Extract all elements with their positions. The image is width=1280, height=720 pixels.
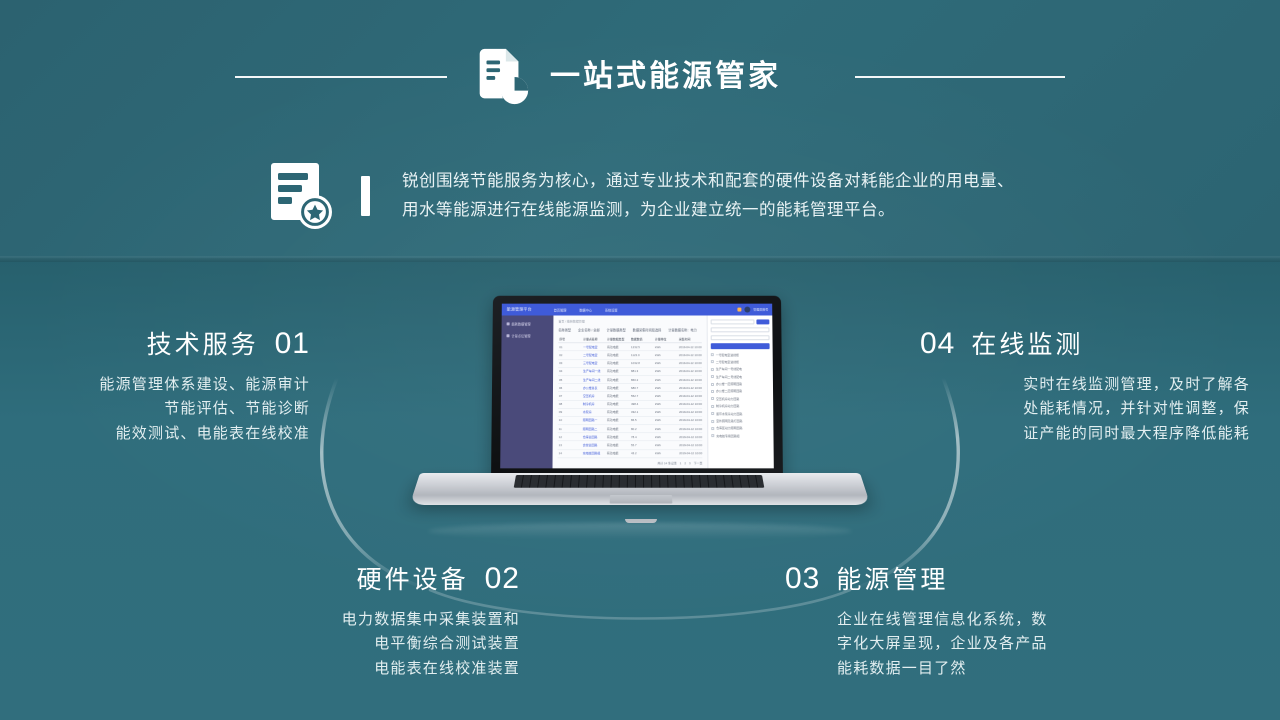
table-cell: 2019-04-12 10:00:00 <box>678 376 702 383</box>
table-cell: kWh <box>654 352 678 359</box>
laptop-keyboard <box>514 475 765 488</box>
quadrant-title: 硬件设备 <box>357 560 469 596</box>
table-cell: 2019-04-12 10:00:00 <box>678 392 702 399</box>
table-cell: 三号配电室 <box>582 360 606 367</box>
quadrant-lines: 能源管理体系建设、能源审计 节能评估、节能诊断 能效测试、电能表在线校准 <box>20 373 310 446</box>
table-cell: 有功电能 <box>606 343 630 350</box>
select-point-type[interactable] <box>711 327 770 332</box>
table-cell: 水泵房 <box>582 409 606 416</box>
quadrant-heading: 硬件设备 02 <box>180 560 520 596</box>
app-topbar: 能源管理平台 首页管理 数据中心 系统设置 管理员账号 <box>502 304 773 316</box>
checkbox-item[interactable]: 生产车间一号线配电 <box>711 367 770 371</box>
checkbox-list[interactable]: 一号配电室进线柜二号配电室进线柜生产车间一号线配电生产车间二号线配电办公楼一层照… <box>711 353 771 438</box>
search-button[interactable] <box>756 319 769 324</box>
table-cell: 2019-04-12 10:00:00 <box>678 417 702 424</box>
table-cell: 332.1 <box>630 409 654 416</box>
table-cell: 12 <box>558 433 582 440</box>
checkbox-label: 办公楼一层照明回路 <box>716 382 742 386</box>
pagination-item[interactable]: 共计 14 条记录 <box>657 461 676 465</box>
table-cell: 881.3 <box>630 368 654 375</box>
table-cell: 80.2 <box>630 425 654 432</box>
table-cell: 1122.0 <box>630 352 654 359</box>
table-cell: 2019-04-12 10:00:00 <box>678 433 702 440</box>
bullet-icon <box>507 322 510 325</box>
table-cell: 仓库总回路 <box>582 433 606 440</box>
table-cell: kWh <box>654 392 678 399</box>
table-cell: 照明回路二 <box>582 425 606 432</box>
checkbox-item[interactable]: 办公楼二层照明回路 <box>711 389 770 393</box>
table-cell: 02 <box>558 352 582 359</box>
checkbox-label: 仓库区动力照明回路 <box>716 426 742 430</box>
table-cell: 14 <box>558 450 582 457</box>
table-row[interactable]: 13食堂总回路有功电能55.7kWh2019-04-12 10:00:00 <box>558 442 703 450</box>
quadrant-lines: 电力数据集中采集装置和 电平衡综合测试装置 电能表在线校准装置 <box>180 608 520 681</box>
checkbox-label: 空压机房动力回路 <box>716 397 739 401</box>
checkbox-label: 办公楼二层照明回路 <box>716 389 742 393</box>
sidebar-item-1[interactable]: 计量点位管理 <box>501 333 553 338</box>
checkbox-item[interactable]: 仓库区动力照明回路 <box>711 426 770 430</box>
table-cell: 1232.5 <box>630 343 654 350</box>
pagination-item[interactable]: 1 <box>680 461 682 465</box>
table-cell: 860.2 <box>630 376 654 383</box>
filter-1[interactable]: 企业名称 / 全部 <box>578 327 600 332</box>
table-row[interactable]: 05生产车间二线有功电能860.2kWh2019-04-12 10:00:00 <box>558 376 702 384</box>
table-cell: 有功电能 <box>606 417 630 424</box>
document-star-icon <box>265 160 335 232</box>
quadrant-title: 技术服务 <box>147 325 259 361</box>
table-cell: 43.2 <box>630 450 654 457</box>
checkbox-label: 充电桩专用回路组 <box>716 434 739 438</box>
checkbox-item[interactable]: 充电桩专用回路组 <box>711 434 770 438</box>
table-cell: 一号配电室 <box>582 343 606 350</box>
quadrant-number: 04 <box>920 327 955 361</box>
table-cell: kWh <box>654 425 678 432</box>
laptop-reflection <box>428 523 852 539</box>
table-column-header: 计量数据类型 <box>606 335 630 342</box>
app-main: 首页 / 能耗数据管理 名称类型 企业名称 / 全部 计量数据类型 数据采集时间… <box>553 315 774 468</box>
table-row[interactable]: 02二号配电室有功电能1122.0kWh2019-04-12 10:00:00 <box>558 352 702 360</box>
checkbox-icon[interactable] <box>711 368 714 371</box>
table-cell: kWh <box>654 376 678 383</box>
table-column-header: 计量单位 <box>654 335 678 342</box>
table-column-header: 计量点名称 <box>582 335 606 342</box>
table-cell: 11 <box>558 425 582 432</box>
table-cell: 食堂总回路 <box>582 442 606 449</box>
panel-search[interactable] <box>711 319 770 324</box>
pagination-item[interactable]: 2 <box>684 461 686 465</box>
table-cell: 55.7 <box>630 442 654 449</box>
quadrant-hardware-equipment: 硬件设备 02 电力数据集中采集装置和 电平衡综合测试装置 电能表在线校准装置 <box>180 560 520 681</box>
checkbox-icon[interactable] <box>711 397 714 400</box>
laptop-lid: 能源管理平台 首页管理 数据中心 系统设置 管理员账号 能耗数据管理 <box>491 296 783 481</box>
table-cell: kWh <box>654 384 678 391</box>
pagination[interactable]: 共计 14 条记录123下一页 <box>558 461 703 465</box>
table-cell: kWh <box>654 368 678 375</box>
table-cell: 2019-04-12 10:00:00 <box>678 360 702 367</box>
table-cell: 2019-04-12 10:00:00 <box>678 409 702 416</box>
filter-0[interactable]: 名称类型 <box>558 327 571 332</box>
checkbox-label: 制冷机房动力回路 <box>716 404 739 408</box>
table-header: 序号计量点名称计量数据类型数据数值计量单位采集时间 <box>558 335 702 343</box>
page-header: 一站式能源管家 <box>0 0 1280 140</box>
app-nav[interactable]: 首页管理 数据中心 系统设置 <box>554 307 618 312</box>
table-row[interactable]: 04生产车间一线有功电能881.3kWh2019-04-12 10:00:00 <box>558 368 702 376</box>
table-cell: 2019-04-12 10:00:00 <box>678 352 702 359</box>
table-cell: 有功电能 <box>606 425 630 432</box>
quadrant-line-1: 节能评估、节能诊断 <box>20 397 310 421</box>
table-cell: 498.4 <box>630 400 654 407</box>
table-row[interactable]: 03三号配电室有功电能1032.8kWh2019-04-12 10:00:00 <box>558 360 702 368</box>
quadrant-technical-service: 技术服务 01 能源管理体系建设、能源审计 节能评估、节能诊断 能效测试、电能表… <box>20 325 310 446</box>
filter-2[interactable]: 计量数据类型 <box>607 327 626 332</box>
table-cell: 二号配电室 <box>582 352 606 359</box>
sidebar-item-0[interactable]: 能耗数据管理 <box>502 321 554 326</box>
checkbox-icon[interactable] <box>711 360 714 363</box>
checkbox-icon[interactable] <box>711 427 714 430</box>
table-body: 01一号配电室有功电能1232.5kWh2019-04-12 10:00:000… <box>558 343 703 458</box>
app-content: 首页 / 能耗数据管理 名称类型 企业名称 / 全部 计量数据类型 数据采集时间… <box>553 315 708 468</box>
table-column-header: 采集时间 <box>678 335 702 342</box>
quadrant-energy-management: 03 能源管理 企业在线管理信息化系统，数 字化大屏呈现，企业及各产品 能耗数据… <box>785 560 1115 681</box>
arc-left <box>322 378 430 590</box>
quadrant-line-2: 电能表在线校准装置 <box>180 657 520 681</box>
table-cell: 2019-04-12 10:00:00 <box>678 400 702 407</box>
table-cell: kWh <box>654 360 678 367</box>
table-cell: 生产车间二线 <box>582 376 606 383</box>
table-cell: 552.7 <box>630 392 654 399</box>
checkbox-label: 室外照明及路灯回路 <box>716 419 742 423</box>
quadrant-title: 能源管理 <box>836 560 948 596</box>
table-cell: 办公楼总表 <box>582 384 606 391</box>
table-cell: 10 <box>558 417 582 424</box>
intro-line-1: 锐创围绕节能服务为核心，通过专业技术和配套的硬件设备对耗能企业的用电量、 <box>402 167 1014 196</box>
checkbox-icon[interactable] <box>711 383 714 386</box>
table-cell: kWh <box>654 433 678 440</box>
table-row[interactable]: 11照明回路二有功电能80.2kWh2019-04-12 10:00:00 <box>558 425 702 433</box>
table-cell: 06 <box>558 384 582 391</box>
table-cell: 86.5 <box>630 417 654 424</box>
page-title: 一站式能源管家 <box>550 62 781 92</box>
quadrant-line-2: 能耗数据一目了然 <box>837 657 1115 681</box>
table-row[interactable]: 01一号配电室有功电能1232.5kWh2019-04-12 10:00:00 <box>558 343 702 351</box>
table-cell: 2019-04-12 10:00:00 <box>678 442 702 449</box>
checkbox-label: 一号配电室进线柜 <box>716 353 739 357</box>
table-cell: 照明回路一 <box>582 417 606 424</box>
laptop-trackpad <box>610 495 673 503</box>
checkbox-icon[interactable] <box>711 353 714 356</box>
table-cell: 有功电能 <box>606 433 630 440</box>
quadrant-line-2: 证产能的同时最大程序降低能耗 <box>920 422 1250 446</box>
table-cell: 1032.8 <box>630 360 654 367</box>
checkbox-item[interactable]: 生产车间二号线配电 <box>711 375 770 379</box>
intro-block: 锐创围绕节能服务为核心，通过专业技术和配套的硬件设备对耗能企业的用电量、 用水等… <box>265 160 1014 232</box>
add-point-button[interactable] <box>711 343 770 349</box>
table-row[interactable]: 10照明回路一有功电能86.5kWh2019-04-12 10:00:00 <box>558 417 702 425</box>
intro-description: 锐创围绕节能服务为核心，通过专业技术和配套的硬件设备对耗能企业的用电量、 用水等… <box>402 167 1014 225</box>
quadrant-online-monitoring: 04 在线监测 实时在线监测管理，及时了解各 处能耗情况，并针对性调整，保 证产… <box>920 325 1250 446</box>
sidebar-label-1: 计量点位管理 <box>511 333 530 338</box>
intro-line-2: 用水等能源进行在线能源监测，为企业建立统一的能耗管理平台。 <box>402 196 1014 225</box>
table-cell: kWh <box>654 343 678 350</box>
quadrant-line-0: 实时在线监测管理，及时了解各 <box>920 373 1250 397</box>
table-cell: 78.4 <box>630 433 654 440</box>
nav-item-1[interactable]: 数据中心 <box>579 307 592 312</box>
breadcrumb: 首页 / 能耗数据管理 <box>558 319 701 323</box>
pagination-item[interactable]: 3 <box>689 461 691 465</box>
table-cell: 09 <box>558 409 582 416</box>
quadrant-line-1: 处能耗情况，并针对性调整，保 <box>920 397 1250 421</box>
table-cell: 2019-04-12 10:00:00 <box>678 368 702 375</box>
laptop-mockup: 能源管理平台 首页管理 数据中心 系统设置 管理员账号 能耗数据管理 <box>420 295 860 535</box>
quadrant-heading: 04 在线监测 <box>920 325 1250 361</box>
table-cell: 2019-04-12 10:00:00 <box>678 384 702 391</box>
table-cell: 有功电能 <box>606 442 630 449</box>
checkbox-item[interactable]: 制冷机房动力回路 <box>711 404 770 408</box>
avatar[interactable] <box>744 307 750 313</box>
table-row[interactable]: 12仓库总回路有功电能78.4kWh2019-04-12 10:00:00 <box>558 433 703 441</box>
checkbox-icon[interactable] <box>711 420 714 423</box>
quadrant-heading: 03 能源管理 <box>785 560 1115 596</box>
table-cell: 03 <box>558 360 582 367</box>
table-column-header: 数据数值 <box>630 335 654 342</box>
user-name: 管理员账号 <box>753 308 768 312</box>
table-cell: 空压机房 <box>582 392 606 399</box>
filter-4[interactable]: 计量数据名称：电力 <box>668 327 697 332</box>
checkbox-icon[interactable] <box>711 375 714 378</box>
checkbox-item[interactable]: 循环水泵房动力回路 <box>711 412 770 416</box>
checkbox-label: 生产车间二号线配电 <box>716 375 742 379</box>
checkbox-label: 二号配电室进线柜 <box>716 360 739 364</box>
table-cell: kWh <box>654 417 678 424</box>
app-user-area[interactable]: 管理员账号 <box>737 307 768 313</box>
table-cell: 制冷机房 <box>582 400 606 407</box>
table-cell: 生产车间一线 <box>582 368 606 375</box>
quadrant-title: 在线监测 <box>971 325 1083 361</box>
table-cell: 充电桩回路组 <box>582 450 606 457</box>
table-row[interactable]: 08制冷机房有功电能498.4kWh2019-04-12 10:00:00 <box>558 400 702 408</box>
filter-3[interactable]: 数据采集时间段选择 <box>633 327 662 332</box>
table-cell: 有功电能 <box>606 368 630 375</box>
quadrant-line-1: 电平衡综合测试装置 <box>180 632 520 656</box>
table-row[interactable]: 09水泵房有功电能332.1kWh2019-04-12 10:00:00 <box>558 409 702 417</box>
quadrant-line-0: 企业在线管理信息化系统，数 <box>837 608 1115 632</box>
table-cell: 07 <box>558 392 582 399</box>
table-cell: 680.7 <box>630 384 654 391</box>
bullet-icon <box>506 334 509 337</box>
filter-bar[interactable]: 名称类型 企业名称 / 全部 计量数据类型 数据采集时间段选择 计量数据名称：电… <box>558 327 701 332</box>
table-cell: kWh <box>654 400 678 407</box>
table-cell: kWh <box>654 450 678 457</box>
table-cell: 有功电能 <box>606 450 630 457</box>
edit-icon[interactable] <box>737 308 741 312</box>
table-cell: 有功电能 <box>606 409 630 416</box>
pagination-item[interactable]: 下一页 <box>694 461 703 465</box>
keyboard-keys <box>514 475 765 488</box>
quadrant-number: 02 <box>485 562 520 596</box>
quadrant-line-0: 能源管理体系建设、能源审计 <box>20 373 310 397</box>
quadrant-line-1: 字化大屏呈现，企业及各产品 <box>837 632 1115 656</box>
checkbox-icon[interactable] <box>711 390 714 393</box>
table-cell: 有功电能 <box>606 376 630 383</box>
table-column-header: 序号 <box>558 335 582 342</box>
table-cell: 有功电能 <box>606 400 630 407</box>
sidebar-label-0: 能耗数据管理 <box>512 321 531 326</box>
quadrant-line-0: 电力数据集中采集装置和 <box>180 608 520 632</box>
table-cell: 13 <box>558 442 582 449</box>
app-body: 能耗数据管理 计量点位管理 首页 / 能耗数据管理 名称类型 企业名称 / 全部… <box>500 315 774 468</box>
document-chart-icon <box>470 46 532 108</box>
checkbox-item[interactable]: 室外照明及路灯回路 <box>711 419 770 423</box>
checkbox-item[interactable]: 空压机房动力回路 <box>711 397 770 401</box>
checkbox-item[interactable]: 二号配电室进线柜 <box>711 360 770 364</box>
brand-lockup: 一站式能源管家 <box>470 46 781 108</box>
nav-item-2[interactable]: 系统设置 <box>605 307 618 312</box>
app-sidebar[interactable]: 能耗数据管理 计量点位管理 <box>500 315 553 468</box>
table-row[interactable]: 06办公楼总表有功电能680.7kWh2019-04-12 10:00:00 <box>558 384 702 392</box>
table-cell: 05 <box>558 376 582 383</box>
quadrant-line-2: 能效测试、电能表在线校准 <box>20 422 310 446</box>
table-cell: 2019-04-12 10:00:00 <box>678 450 702 457</box>
nav-item-0[interactable]: 首页管理 <box>554 307 567 312</box>
table-cell: 2019-04-12 10:00:00 <box>678 343 702 350</box>
table-cell: 01 <box>558 343 582 350</box>
table-cell: 有功电能 <box>606 384 630 391</box>
table-cell: 有功电能 <box>606 352 630 359</box>
table-cell: kWh <box>654 409 678 416</box>
table-cell: 04 <box>558 368 582 375</box>
quadrant-lines: 实时在线监测管理，及时了解各 处能耗情况，并针对性调整，保 证产能的同时最大程序… <box>920 373 1250 446</box>
checkbox-label: 生产车间一号线配电 <box>716 367 742 371</box>
table-cell: 有功电能 <box>606 392 630 399</box>
quadrant-number: 01 <box>275 327 310 361</box>
table-cell: kWh <box>654 442 678 449</box>
quadrant-lines: 企业在线管理信息化系统，数 字化大屏呈现，企业及各产品 能耗数据一目了然 <box>837 608 1115 681</box>
table-row[interactable]: 14充电桩回路组有功电能43.2kWh2019-04-12 10:00:00 <box>558 450 703 458</box>
intro-accent-bar <box>361 176 370 216</box>
quadrant-number: 03 <box>785 562 820 596</box>
table-row[interactable]: 07空压机房有功电能552.7kWh2019-04-12 10:00:00 <box>558 392 702 400</box>
table-cell: 08 <box>558 400 582 407</box>
header-rule-right <box>855 76 1065 78</box>
laptop-screen: 能源管理平台 首页管理 数据中心 系统设置 管理员账号 能耗数据管理 <box>500 304 774 469</box>
checkbox-icon[interactable] <box>711 412 714 415</box>
checkbox-icon[interactable] <box>711 405 714 408</box>
quadrant-heading: 技术服务 01 <box>20 325 310 361</box>
checkbox-icon[interactable] <box>711 434 714 437</box>
checkbox-item[interactable]: 办公楼一层照明回路 <box>711 382 770 386</box>
header-rule-left <box>235 76 447 78</box>
app-logo: 能源管理平台 <box>507 307 532 313</box>
table-cell: 有功电能 <box>606 360 630 367</box>
checkbox-label: 循环水泵房动力回路 <box>716 412 742 416</box>
checkbox-item[interactable]: 一号配电室进线柜 <box>711 353 770 357</box>
side-panel: 一号配电室进线柜二号配电室进线柜生产车间一号线配电生产车间二号线配电办公楼一层照… <box>707 315 774 468</box>
table-cell: 2019-04-12 10:00:00 <box>678 425 702 432</box>
select-collect-period[interactable] <box>711 335 770 340</box>
search-input[interactable] <box>711 319 755 324</box>
